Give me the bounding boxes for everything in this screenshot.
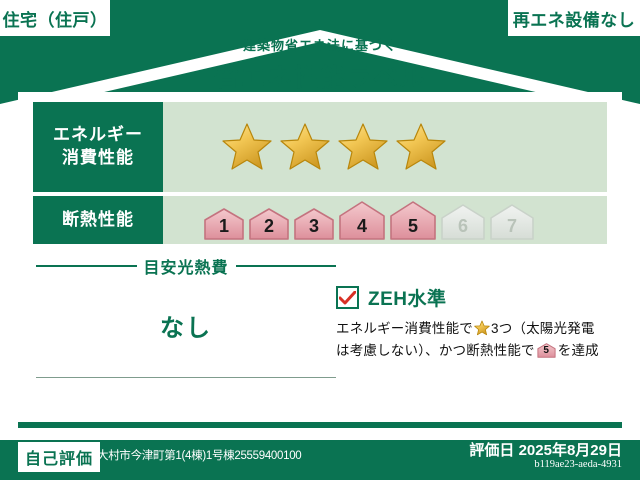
- badge-dwelling-type: 住宅（住戸）: [0, 0, 110, 36]
- energy-performance-value-cell: [163, 102, 607, 192]
- energy-performance-label: 住宅（住戸） 再エネ設備なし 建築物省エネ法に基づく 省エネ性能ラベル エネルギ…: [0, 0, 640, 480]
- insulation-level-number: 7: [489, 216, 535, 237]
- insulation-level-number: 3: [293, 216, 335, 237]
- label-title-block: 建築物省エネ法に基づく 省エネ性能ラベル: [0, 38, 640, 94]
- utility-cost-bottom-rule: [36, 377, 336, 378]
- divider-right: [236, 265, 337, 267]
- insulation-level-4: 4: [338, 200, 386, 241]
- evaluation-date: 評価日 2025年8月29日: [469, 439, 622, 460]
- energy-label-line2: 消費性能: [62, 147, 134, 170]
- insulation-level-scale: 1 2 3: [163, 200, 535, 241]
- footer: 自己評価 大村市今津町第1(4棟)1号棟25559400100 評価日 2025…: [0, 436, 640, 480]
- insulation-label: 断熱性能: [62, 209, 134, 232]
- star-rating: [163, 122, 447, 172]
- insulation-level-number: 4: [338, 216, 386, 237]
- page-title: 省エネ性能ラベル: [0, 58, 640, 94]
- evaluation-id: b119ae23-aeda-4931: [534, 459, 622, 470]
- house-icon-number: 5: [537, 343, 556, 359]
- star-icon: [474, 320, 490, 336]
- label-card: エネルギー 消費性能: [18, 92, 622, 422]
- title-subtitle: 建築物省エネ法に基づく: [0, 38, 640, 55]
- zeh-title: ZEH水準: [368, 284, 447, 311]
- property-address: 大村市今津町第1(4棟)1号棟25559400100: [97, 447, 301, 463]
- utility-cost-value: なし: [36, 308, 336, 343]
- insulation-level-7: 7: [489, 203, 535, 241]
- insulation-level-5: 5: [389, 200, 437, 241]
- footer-divider: [18, 430, 622, 432]
- divider-left: [36, 265, 137, 267]
- star-icon: [337, 122, 389, 172]
- house-icon: 5: [537, 342, 556, 359]
- insulation-level-3: 3: [293, 207, 335, 241]
- insulation-performance-label-cell: 断熱性能: [33, 196, 163, 244]
- star-icon: [221, 122, 273, 172]
- insulation-level-1: 1: [203, 207, 245, 241]
- zeh-desc-part3: を達成: [558, 343, 599, 358]
- zeh-desc-part1: エネルギー消費性能で: [336, 321, 473, 336]
- insulation-performance-row: 断熱性能: [33, 196, 607, 244]
- zeh-section: ZEH水準 エネルギー消費性能で3つ（太陽光発電は考慮しない）、かつ断熱性能で5…: [336, 284, 608, 362]
- zeh-header: ZEH水準: [336, 284, 608, 311]
- insulation-performance-value-cell: 1 2 3: [163, 196, 607, 244]
- star-icon: [279, 122, 331, 172]
- insulation-level-number: 1: [203, 216, 245, 237]
- utility-cost-title: 目安光熱費: [144, 254, 229, 278]
- check-icon: [339, 291, 356, 305]
- insulation-level-number: 6: [440, 216, 486, 237]
- insulation-level-6: 6: [440, 203, 486, 241]
- star-icon: [395, 122, 447, 172]
- zeh-description: エネルギー消費性能で3つ（太陽光発電は考慮しない）、かつ断熱性能で5を達成: [336, 318, 608, 362]
- utility-cost-header: 目安光熱費: [36, 254, 336, 278]
- zeh-checkbox: [336, 286, 359, 309]
- energy-performance-label-cell: エネルギー 消費性能: [33, 102, 163, 192]
- utility-cost-section: 目安光熱費 なし: [36, 254, 336, 343]
- energy-label-line1: エネルギー: [53, 124, 143, 147]
- energy-performance-row: エネルギー 消費性能: [33, 102, 607, 192]
- insulation-level-number: 5: [389, 216, 437, 237]
- badge-renewable-energy: 再エネ設備なし: [508, 0, 640, 36]
- insulation-level-number: 2: [248, 216, 290, 237]
- insulation-level-2: 2: [248, 207, 290, 241]
- self-evaluation-badge: 自己評価: [18, 442, 100, 472]
